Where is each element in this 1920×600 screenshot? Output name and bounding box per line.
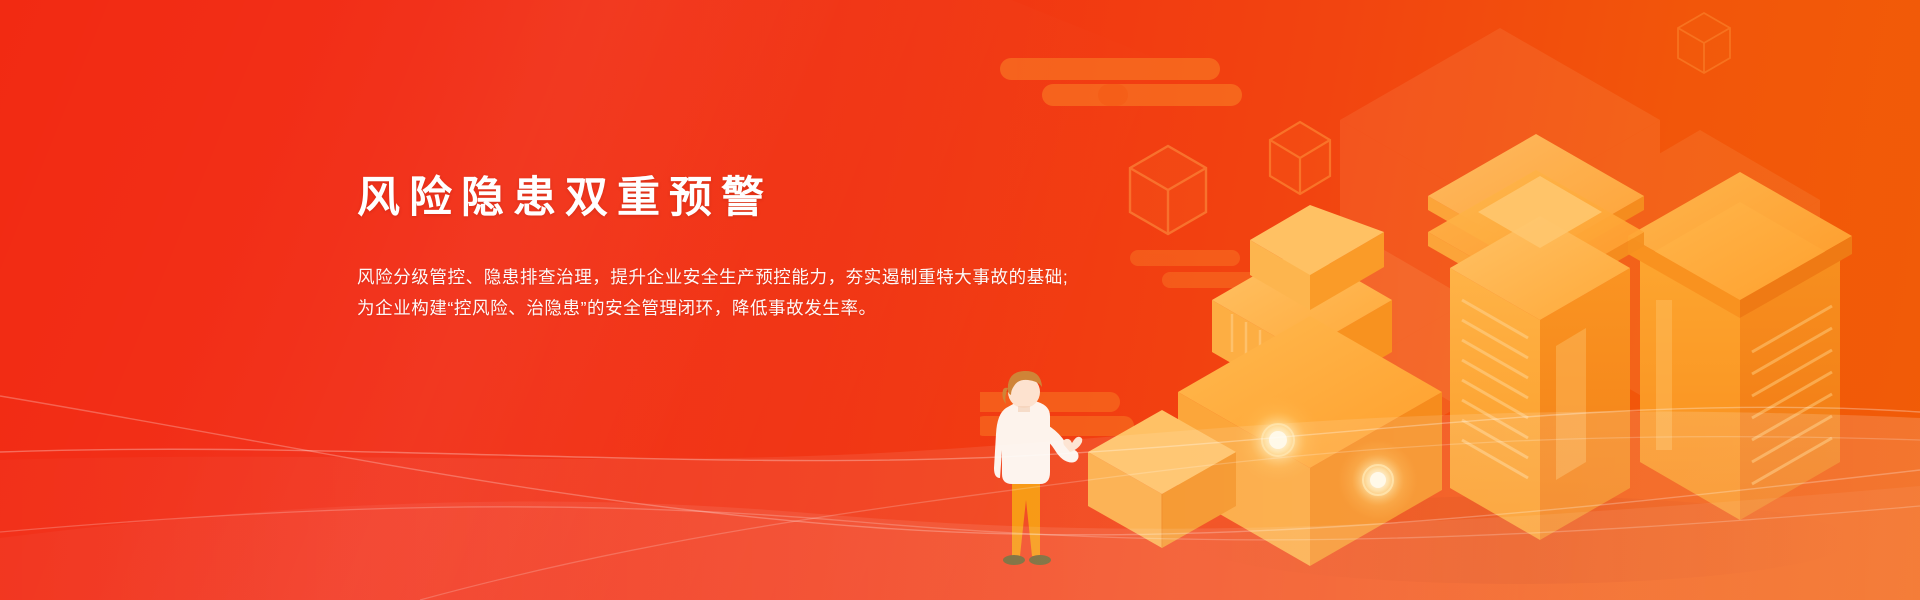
hex-cube-icon [1270, 122, 1330, 194]
glow-dot [1234, 396, 1322, 484]
wave-line-4 [420, 437, 1920, 600]
wave-line-2 [0, 396, 1920, 535]
subtitle-line-2: 为企业构建“控风险、治隐患”的安全管理闭环，降低事故发生率。 [357, 293, 1217, 324]
glow-dot [1338, 440, 1418, 520]
page-title: 风险隐患双重预警 [357, 172, 1217, 226]
wave-band-1 [0, 412, 1920, 600]
front-block-large [1178, 316, 1442, 566]
wave-line-3 [0, 506, 1920, 540]
front-box-small [1088, 410, 1236, 548]
copy-block: 风险隐患双重预警 风险分级管控、隐患排查治理，提升企业安全生产预控能力，夯实遏制… [357, 172, 1217, 324]
subtitle-line-1: 风险分级管控、隐患排查治理，提升企业安全生产预控能力，夯实遏制重特大事故的基础; [357, 262, 1217, 293]
wave-line-1 [0, 407, 1920, 460]
decorative-waves [0, 300, 1920, 600]
cloud-motif [980, 392, 1134, 436]
person-pointing [994, 371, 1082, 565]
hex-cube-icon [1678, 13, 1730, 73]
subtitle-group: 风险分级管控、隐患排查治理，提升企业安全生产预控能力，夯实遏制重特大事故的基础;… [357, 226, 1217, 324]
tower-back-right [1628, 172, 1852, 520]
chevron-block [1212, 205, 1392, 404]
tower-center [1428, 134, 1644, 540]
wave-band-2 [0, 486, 1920, 600]
ground-shadow [1190, 496, 1850, 584]
ghost-blocks [1230, 230, 1470, 470]
hero-banner: 风险隐患双重预警 风险分级管控、隐患排查治理，提升企业安全生产预控能力，夯实遏制… [0, 0, 1920, 600]
cloud-motif [1000, 58, 1242, 106]
ghost-towers [1340, 28, 1820, 430]
